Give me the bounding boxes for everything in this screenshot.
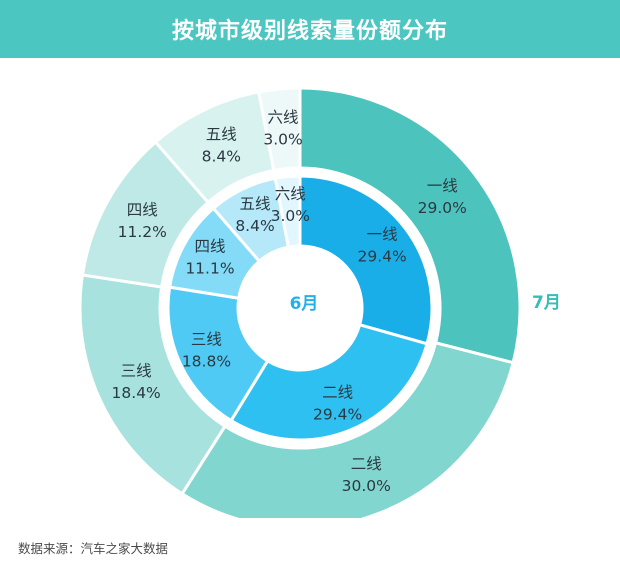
slice-label-name: 六线 [268, 108, 299, 126]
slice-label-name: 三线 [121, 362, 152, 380]
slice-label-value: 3.0% [263, 130, 302, 148]
slice-label-value: 29.4% [313, 405, 362, 423]
slice-label-name: 六线 [275, 185, 306, 203]
slice-label-value: 18.4% [112, 384, 161, 402]
slice-label-value: 30.0% [342, 477, 391, 495]
donut-chart: 一线29.0%二线30.0%三线18.4%四线11.2%五线8.4%六线3.0%… [0, 58, 620, 518]
slice-label-value: 3.0% [271, 207, 310, 225]
slice-label-name: 一线 [367, 225, 398, 243]
chart-page: 按城市级别线索量份额分布 一线29.0%二线30.0%三线18.4%四线11.2… [0, 0, 620, 574]
page-title: 按城市级别线索量份额分布 [172, 13, 448, 45]
slice-label-value: 8.4% [202, 148, 241, 166]
slice-label-value: 11.2% [118, 223, 167, 241]
slice-label-name: 三线 [191, 331, 222, 349]
slice-label-name: 二线 [351, 455, 382, 473]
slice-label-value: 29.0% [418, 199, 467, 217]
slice-label-value: 11.1% [185, 260, 234, 278]
slice-label-name: 五线 [206, 126, 237, 144]
donut-chart-svg: 一线29.0%二线30.0%三线18.4%四线11.2%五线8.4%六线3.0%… [0, 58, 620, 518]
title-bar: 按城市级别线索量份额分布 [0, 0, 620, 58]
slice-label-name: 四线 [194, 238, 225, 256]
data-source-note: 数据来源：汽车之家大数据 [18, 538, 168, 557]
slice-label-value: 18.8% [182, 353, 231, 371]
slice-label-value: 8.4% [235, 217, 274, 235]
outer-ring-caption: 7月 [532, 293, 561, 313]
slice-label-value: 29.4% [357, 247, 406, 265]
footer: 数据来源：汽车之家大数据 [0, 518, 620, 574]
slice-label-name: 二线 [322, 383, 353, 401]
slice-label-name: 一线 [427, 177, 458, 195]
slice-label-name: 五线 [240, 195, 271, 213]
inner-ring-caption: 6月 [290, 294, 319, 314]
slice-label-name: 四线 [127, 201, 158, 219]
